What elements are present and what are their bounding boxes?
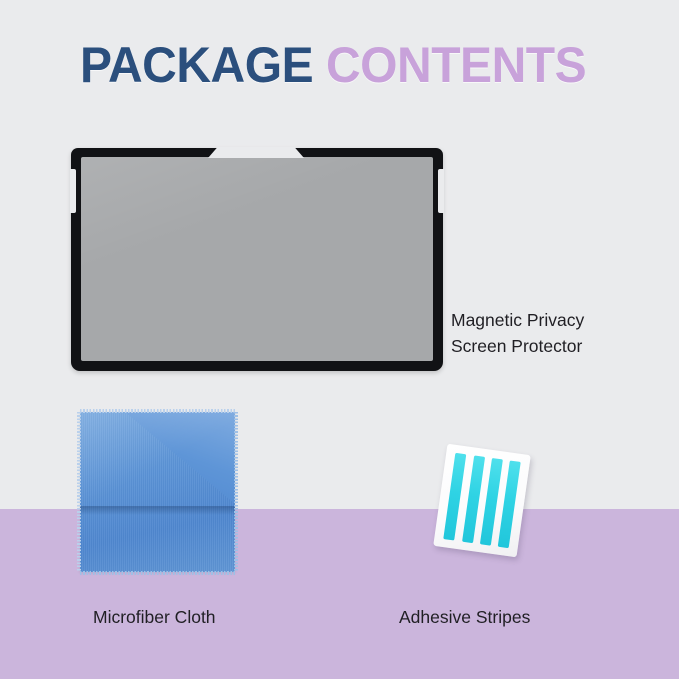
screen-protector-label-line-1: Magnetic Privacy (451, 307, 651, 333)
screen-protector-label: Magnetic Privacy Screen Protector (451, 307, 651, 359)
cloth-edge-left (77, 412, 81, 572)
title-space (313, 37, 326, 93)
adhesive-stripes-product (433, 444, 531, 558)
package-contents-graphic: PACKAGE CONTENTS Magnetic Privacy Screen… (0, 0, 679, 679)
camera-notch-cutout (208, 147, 304, 158)
cloth-edge-right (234, 412, 238, 572)
cloth-edge-top (80, 409, 235, 413)
cloth-edge-bottom (80, 571, 235, 575)
microfiber-cloth-label: Microfiber Cloth (93, 605, 216, 629)
right-side-tab-cutout (438, 169, 444, 213)
title-word-contents: CONTENTS (326, 37, 586, 93)
page-title: PACKAGE CONTENTS (80, 36, 618, 94)
screen-protector-product (71, 148, 443, 371)
left-side-tab-cutout (70, 169, 76, 213)
title-word-package: PACKAGE (80, 37, 313, 93)
microfiber-cloth-product (80, 412, 235, 572)
adhesive-stripes-label: Adhesive Stripes (399, 605, 530, 629)
cloth-crease-shadow (80, 508, 235, 515)
protector-screen-panel (81, 157, 433, 361)
screen-protector-label-line-2: Screen Protector (451, 333, 651, 359)
